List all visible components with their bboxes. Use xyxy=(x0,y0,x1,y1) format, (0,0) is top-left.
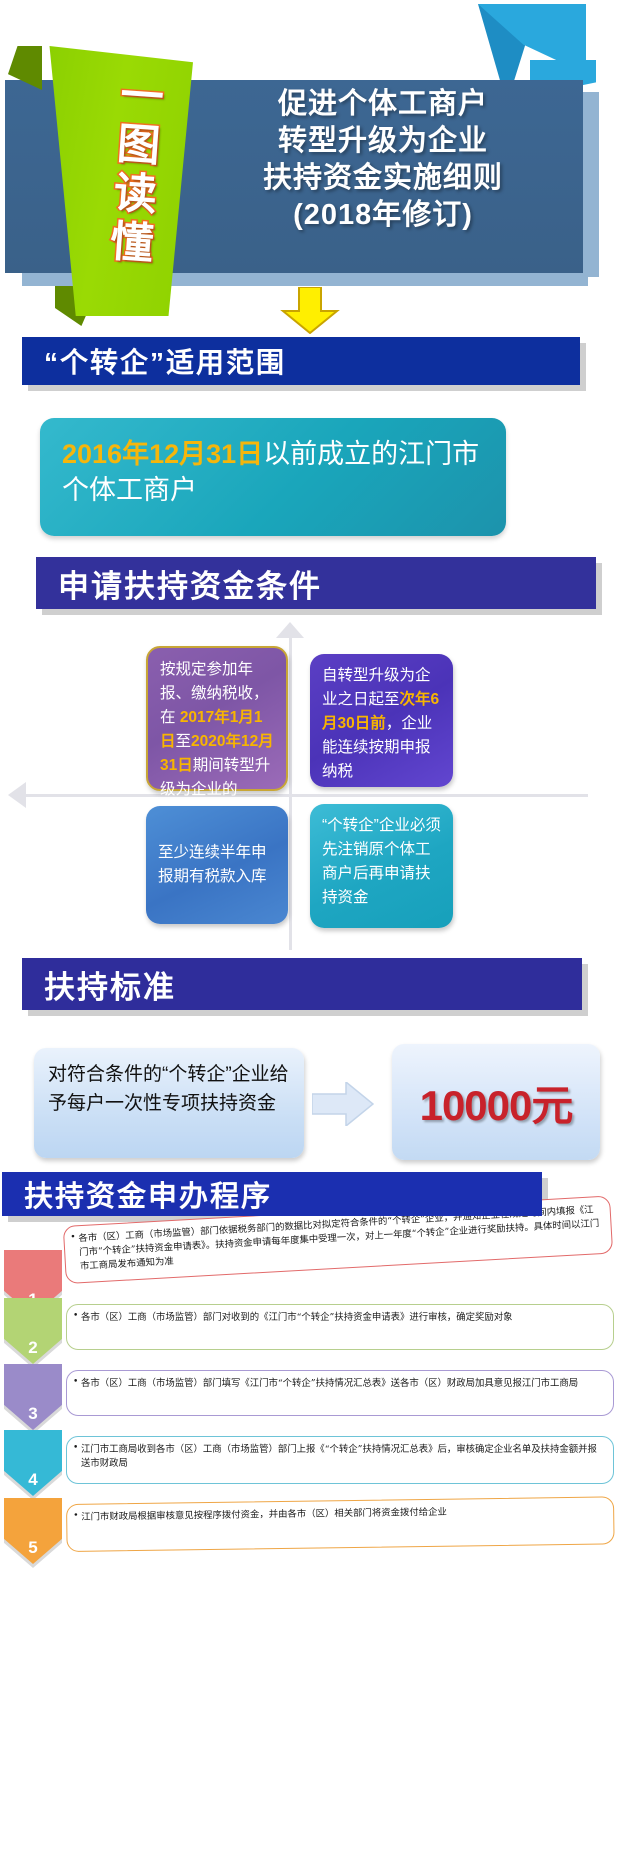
standard-amount-box: 10000元 xyxy=(392,1044,600,1160)
section-bar-scope: “个转企”适用范围 xyxy=(22,337,580,385)
section-bar-procedure: 扶持资金申办程序 xyxy=(2,1172,542,1216)
ribbon-label: 一图读懂 xyxy=(27,66,170,271)
condition-card-3: 至少连续半年申报期有税款入库 xyxy=(146,806,288,924)
standard-description-box: 对符合条件的“个转企”企业给予每户一次性专项扶持资金 xyxy=(34,1048,304,1158)
down-arrow-icon xyxy=(279,287,341,334)
section-bar-conditions: 申请扶持资金条件 xyxy=(36,557,596,609)
condition-text: 至 xyxy=(176,733,192,750)
grid-axis-horizontal xyxy=(18,794,588,797)
scope-highlight-date: 2016年12月31日 xyxy=(62,439,263,469)
standard-amount: 10000元 xyxy=(420,1072,573,1133)
condition-continuous-filing: 自转型升级为企业之日起至次年6月30日前，企业能连续按期申报纳税 xyxy=(310,654,453,787)
conditions-grid: 按规定参加年报、缴纳税收，在 2017年1月1日至2020年12月31日期间转型… xyxy=(0,612,620,952)
title-line-3: 扶持资金实施细则 xyxy=(185,160,581,197)
header-banner: 一图读懂 促进个体工商户 转型升级为企业 扶持资金实施细则 (2018年修订) xyxy=(0,0,620,310)
condition-annual-report: 按规定参加年报、缴纳税收，在 2017年1月1日至2020年12月31日期间转型… xyxy=(146,646,288,791)
axis-up-arrow-icon xyxy=(276,622,304,650)
title-line-2: 转型升级为企业 xyxy=(185,123,581,160)
title-line-4: (2018年修订) xyxy=(185,197,581,234)
scope-box: 2016年12月31日以前成立的江门市个体工商户 xyxy=(40,418,506,536)
condition-tax-paid: 至少连续半年申报期有税款入库 xyxy=(158,841,276,889)
step-text-2: 各市（区）工商（市场监管）部门对收到的《江门市“个转企”扶持资金申请表》进行审核… xyxy=(66,1304,614,1350)
procedure-steps: 各市（区）工商（市场监管）部门依据税务部门的数据比对拟定符合条件的“个转企”企业… xyxy=(0,1222,620,1862)
step-text-5: 江门市财政局根据审核意见按程序拨付资金，并由各市（区）相关部门将资金拨付给企业 xyxy=(66,1496,615,1552)
step-chevron-2: 2 xyxy=(4,1298,62,1364)
step-chevron-5: 5 xyxy=(4,1498,62,1564)
step-text-4: 江门市工商局收到各市（区）工商（市场监管）部门上报《“个转企”扶持情况汇总表》后… xyxy=(66,1436,614,1484)
step-text-3: 各市（区）工商（市场监管）部门填写《江门市“个转企”扶持情况汇总表》送各市（区）… xyxy=(66,1370,614,1416)
axis-left-arrow-icon xyxy=(8,780,38,810)
step-chevron-4: 4 xyxy=(4,1430,62,1496)
title-line-1: 促进个体工商户 xyxy=(185,86,581,123)
page-title: 促进个体工商户 转型升级为企业 扶持资金实施细则 (2018年修订) xyxy=(185,86,581,234)
condition-text: “个转企”企业必须先注销原个体工商户后再申请扶持资金 xyxy=(322,817,441,906)
step-chevron-3: 3 xyxy=(4,1364,62,1430)
right-arrow-icon xyxy=(312,1082,374,1126)
section-bar-standard: 扶持标准 xyxy=(22,958,582,1010)
condition-text: 至少连续半年申报期有税款入库 xyxy=(158,844,267,885)
condition-deregister-first: “个转企”企业必须先注销原个体工商户后再申请扶持资金 xyxy=(310,804,453,928)
header-panel-shadow-right xyxy=(583,92,599,277)
grid-axis-vertical xyxy=(289,628,292,950)
